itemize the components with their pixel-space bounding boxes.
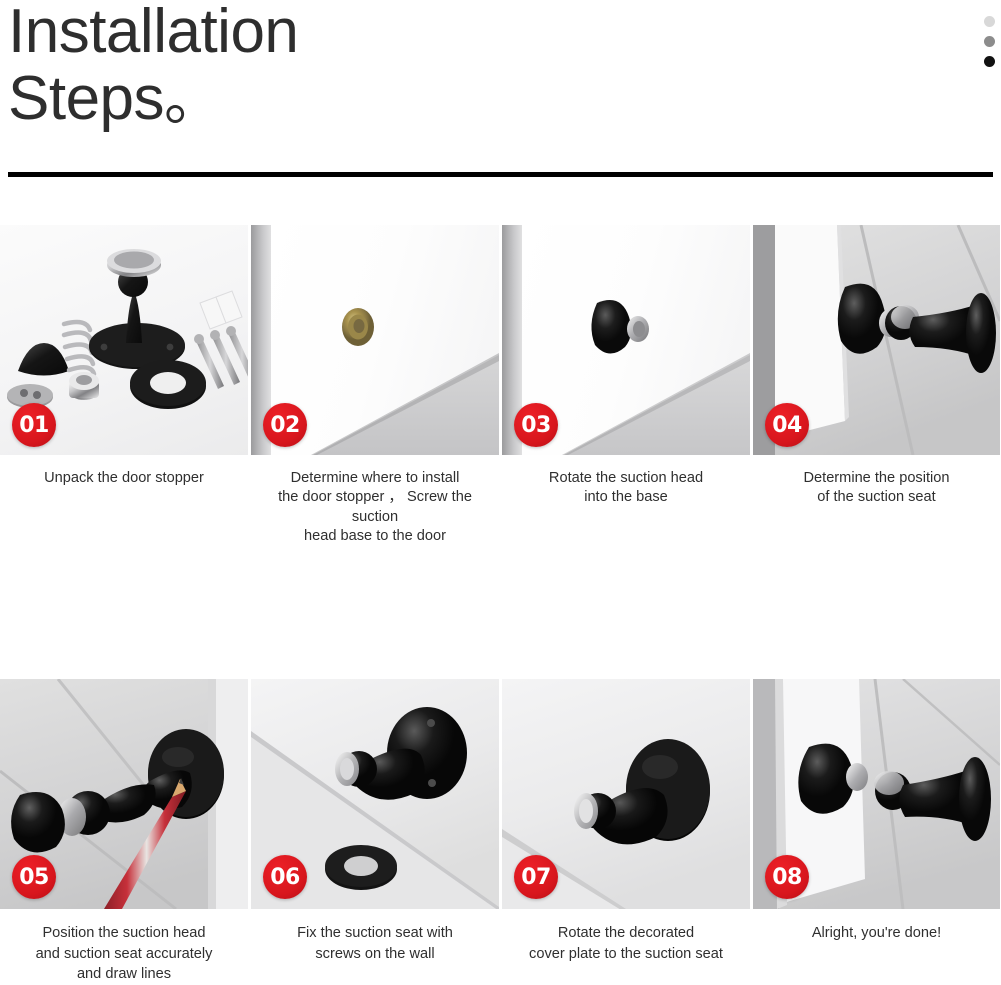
step-card-06: 06 Fix the suction seat with screws on t… xyxy=(251,679,499,985)
step-card-03: 03 Rotate the suction head into the base xyxy=(502,225,750,546)
step-photo-02: 02 xyxy=(251,225,499,455)
step-photo-01: 01 xyxy=(0,225,248,455)
step-badge-06: 06 xyxy=(263,855,307,899)
page-title-punctuation: 。 xyxy=(164,65,222,133)
step-badge-04: 04 xyxy=(765,403,809,447)
step-photo-03: 03 xyxy=(502,225,750,455)
steps-row-2: 05 Position the suction head and suction… xyxy=(0,679,1001,985)
carousel-dots[interactable] xyxy=(984,16,995,67)
step-caption-08: Alright, you're done! xyxy=(753,909,1000,944)
step-badge-02: 02 xyxy=(263,403,307,447)
step-card-02: 02 Determine where to install the door s… xyxy=(251,225,499,546)
step-badge-07: 07 xyxy=(514,855,558,899)
step-card-05: 05 Position the suction head and suction… xyxy=(0,679,248,985)
step-badge-05: 05 xyxy=(12,855,56,899)
page-title: Installation Steps。 xyxy=(8,0,1001,130)
step-photo-05: 05 xyxy=(0,679,248,909)
dot-2-icon[interactable] xyxy=(984,36,995,47)
step-photo-04: 04 xyxy=(753,225,1000,455)
page-title-line-1: Installation xyxy=(8,0,298,66)
steps-grid: 01 Unpack the door stopper xyxy=(0,225,1001,985)
dot-3-icon[interactable] xyxy=(984,56,995,67)
page-title-line-2-text: Steps xyxy=(8,64,164,133)
step-card-07: 07 Rotate the decorated cover plate to t… xyxy=(502,679,750,985)
row-spacer xyxy=(0,546,1001,679)
step-badge-03: 03 xyxy=(514,403,558,447)
step-caption-02: Determine where to install the door stop… xyxy=(251,455,499,546)
step-caption-04: Determine the position of the suction se… xyxy=(753,455,1000,508)
step-caption-03: Rotate the suction head into the base xyxy=(502,455,750,508)
step-caption-01: Unpack the door stopper xyxy=(0,455,248,488)
steps-row-1: 01 Unpack the door stopper xyxy=(0,225,1001,546)
step-photo-08: 08 xyxy=(753,679,1000,909)
step-badge-01: 01 xyxy=(12,403,56,447)
step-caption-05: Position the suction head and suction se… xyxy=(0,909,248,985)
step-card-08: 08 Alright, you're done! xyxy=(753,679,1000,985)
step-photo-06: 06 xyxy=(251,679,499,909)
step-photo-07: 07 xyxy=(502,679,750,909)
page-title-line-2: Steps。 xyxy=(8,69,1001,130)
step-caption-06: Fix the suction seat with screws on the … xyxy=(251,909,499,964)
title-divider xyxy=(8,172,993,177)
step-card-01: 01 Unpack the door stopper xyxy=(0,225,248,546)
dot-1-icon[interactable] xyxy=(984,16,995,27)
step-card-04: 04 Determine the position of the suction… xyxy=(753,225,1000,546)
step-caption-07: Rotate the decorated cover plate to the … xyxy=(502,909,750,964)
step-badge-08: 08 xyxy=(765,855,809,899)
page-header: Installation Steps。 xyxy=(0,0,1001,130)
